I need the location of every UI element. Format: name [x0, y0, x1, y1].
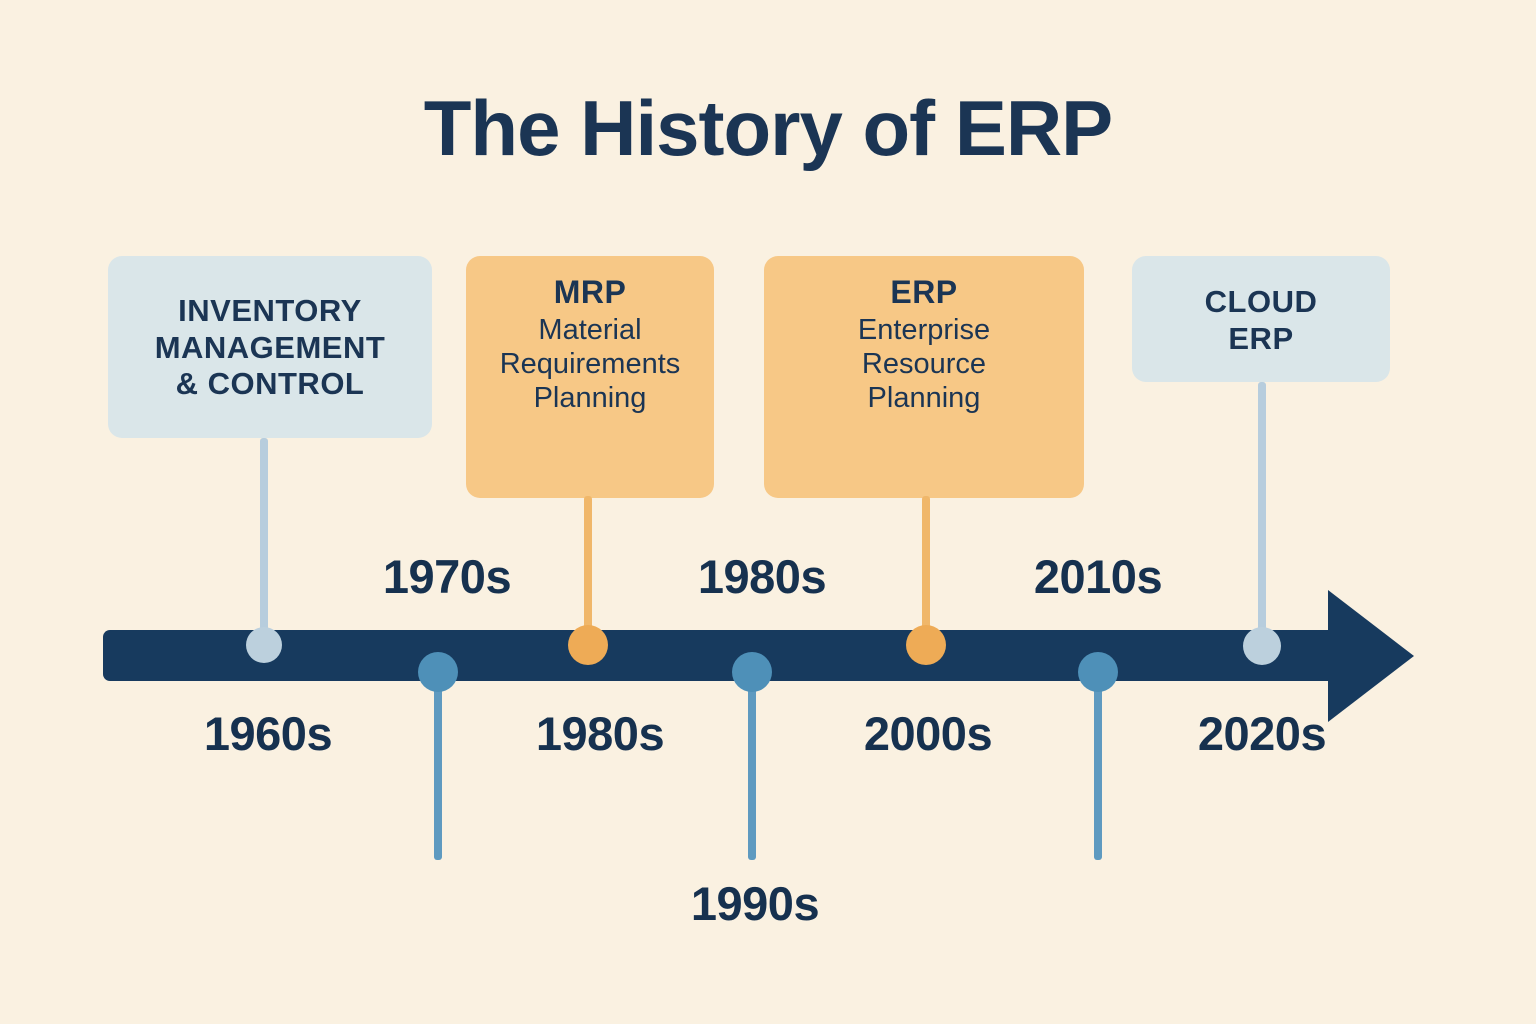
decade-label-1990s: 1990s — [655, 876, 855, 931]
timeline-arrow-icon — [1328, 590, 1414, 722]
decade-label-2020s: 2020s — [1162, 706, 1362, 761]
page-title: The History of ERP — [0, 88, 1536, 170]
card-inventory-management[interactable]: INVENTORY MANAGEMENT & CONTROL — [108, 256, 432, 438]
decade-label-1980s-below: 1980s — [500, 706, 700, 761]
card-mrp[interactable]: MRP Material Requirements Planning — [466, 256, 714, 498]
card-erp[interactable]: ERP Enterprise Resource Planning — [764, 256, 1084, 498]
card-erp-subtitle: Enterprise Resource Planning — [858, 314, 990, 416]
decade-label-2000s: 2000s — [828, 706, 1028, 761]
connector-stem-1980s-lower — [434, 668, 442, 860]
card-cloud-erp[interactable]: CLOUD ERP — [1132, 256, 1390, 382]
card-inventory-heading: INVENTORY MANAGEMENT & CONTROL — [155, 293, 386, 403]
timeline-dot-1990s[interactable] — [732, 652, 772, 692]
timeline-dot-1970s[interactable] — [568, 625, 608, 665]
decade-label-1970s: 1970s — [347, 549, 547, 604]
timeline-bar — [103, 630, 1348, 681]
card-mrp-heading: MRP — [554, 274, 627, 310]
timeline-dot-1980s-upper[interactable] — [906, 625, 946, 665]
timeline-dot-1980s-lower[interactable] — [418, 652, 458, 692]
decade-label-2010s: 2010s — [998, 549, 1198, 604]
connector-stem-1990s — [748, 668, 756, 860]
card-mrp-subtitle: Material Requirements Planning — [500, 314, 681, 416]
connector-stem-cloud-erp — [1258, 382, 1266, 650]
timeline-dot-1960s[interactable] — [246, 627, 282, 663]
connector-stem-2000s — [1094, 668, 1102, 860]
infographic-canvas: The History of ERP INVENTORY MANAGEMENT … — [0, 0, 1536, 1024]
decade-label-1980s-above: 1980s — [662, 549, 862, 604]
timeline-dot-2000s[interactable] — [1078, 652, 1118, 692]
connector-stem-inventory — [260, 438, 268, 650]
timeline-dot-2010s[interactable] — [1243, 627, 1281, 665]
card-cloud-erp-heading: CLOUD ERP — [1205, 283, 1318, 357]
decade-label-1960s: 1960s — [168, 706, 368, 761]
card-erp-heading: ERP — [890, 274, 957, 310]
